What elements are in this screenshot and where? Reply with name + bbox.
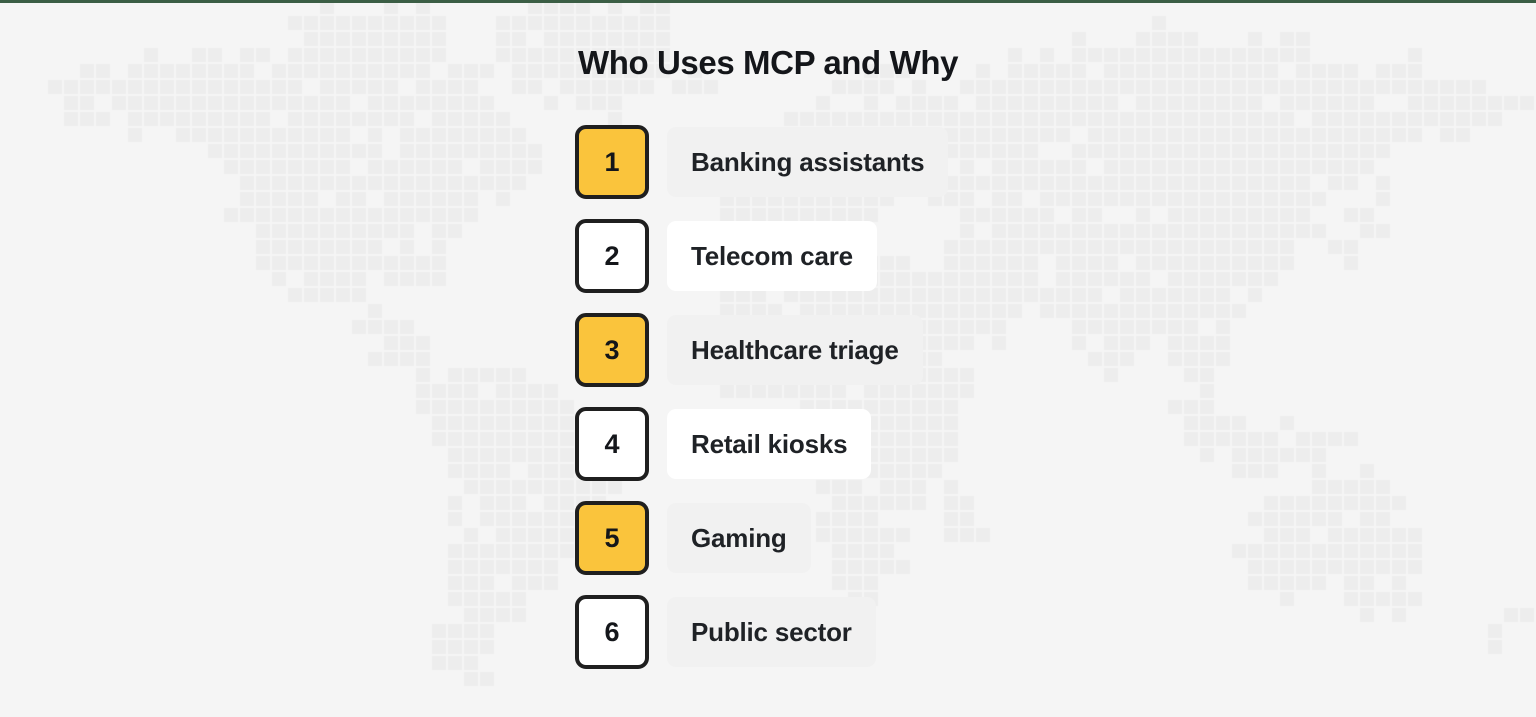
item-label: Retail kiosks (667, 409, 871, 479)
list-item[interactable]: 5Gaming (575, 501, 948, 575)
item-number-badge: 4 (575, 407, 649, 481)
item-label: Healthcare triage (667, 315, 923, 385)
item-number-badge: 2 (575, 219, 649, 293)
item-number-badge: 3 (575, 313, 649, 387)
list-item[interactable]: 3Healthcare triage (575, 313, 948, 387)
page-title: Who Uses MCP and Why (0, 44, 1536, 82)
top-accent-rule (0, 0, 1536, 3)
slide-content: Who Uses MCP and Why 1Banking assistants… (0, 0, 1536, 717)
item-label: Telecom care (667, 221, 877, 291)
item-number-badge: 1 (575, 125, 649, 199)
item-label: Banking assistants (667, 127, 948, 197)
item-label: Public sector (667, 597, 876, 667)
usecase-list: 1Banking assistants2Telecom care3Healthc… (575, 125, 948, 689)
item-number-badge: 5 (575, 501, 649, 575)
list-item[interactable]: 2Telecom care (575, 219, 948, 293)
item-number-badge: 6 (575, 595, 649, 669)
list-item[interactable]: 6Public sector (575, 595, 948, 669)
list-item[interactable]: 4Retail kiosks (575, 407, 948, 481)
list-item[interactable]: 1Banking assistants (575, 125, 948, 199)
item-label: Gaming (667, 503, 811, 573)
